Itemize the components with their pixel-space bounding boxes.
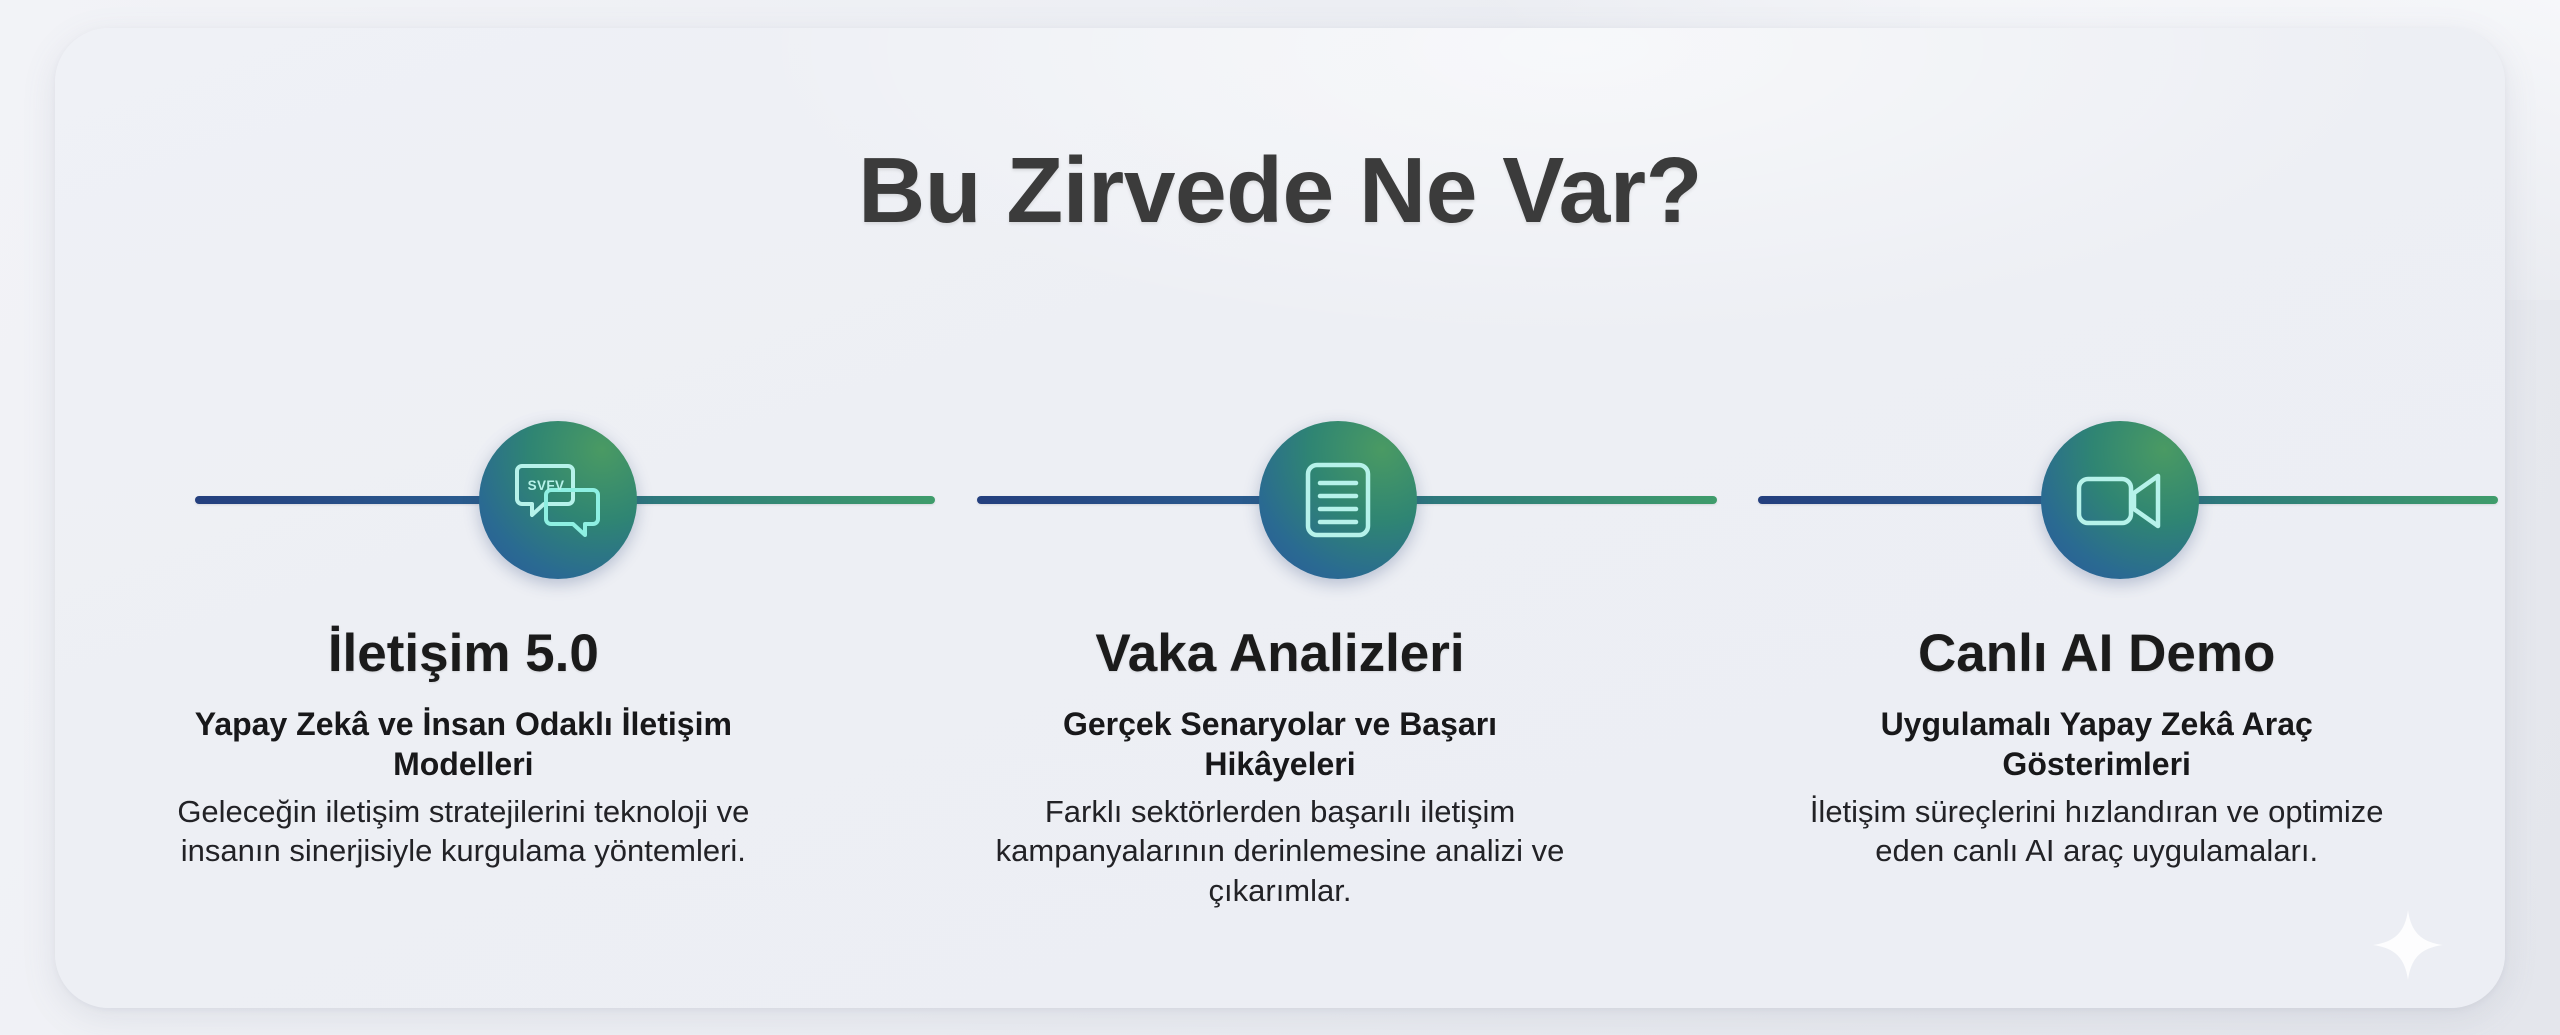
feature-subtitle: Uygulamalı Yapay Zekâ Araç Gösterimleri — [1808, 704, 2385, 784]
sparkle-icon — [2371, 908, 2445, 982]
chat-bubbles-icon: SVFV — [515, 458, 601, 542]
feature-subtitle: Yapay Zekâ ve İnsan Odaklı İletişim Mode… — [175, 704, 752, 784]
feature-title: İletişim 5.0 — [175, 626, 752, 682]
video-camera-icon — [2074, 467, 2166, 533]
timeline-node-1[interactable]: SVFV — [479, 421, 637, 579]
feature-columns: İletişim 5.0 Yapay Zekâ ve İnsan Odaklı … — [55, 626, 2505, 911]
feature-subtitle: Gerçek Senaryolar ve Başarı Hikâyeleri — [992, 704, 1569, 784]
feature-description: İletişim süreçlerini hızlandıran ve opti… — [1808, 792, 2385, 871]
feature-title: Canlı AI Demo — [1808, 626, 2385, 682]
document-lines-icon — [1299, 458, 1377, 542]
timeline-node-3[interactable] — [2041, 421, 2199, 579]
feature-column-3: Canlı AI Demo Uygulamalı Yapay Zekâ Araç… — [1688, 626, 2505, 911]
feature-title: Vaka Analizleri — [992, 626, 1569, 682]
node-badge-label: SVFV — [528, 478, 565, 493]
feature-column-1: İletişim 5.0 Yapay Zekâ ve İnsan Odaklı … — [55, 626, 872, 911]
page-root: Bu Zirvede Ne Var? SVFV — [0, 0, 2560, 1035]
timeline-node-2[interactable] — [1259, 421, 1417, 579]
page-title: Bu Zirvede Ne Var? — [55, 144, 2505, 237]
timeline: SVFV — [55, 393, 2505, 608]
feature-description: Farklı sektörlerden başarılı iletişim ka… — [992, 792, 1569, 911]
feature-column-2: Vaka Analizleri Gerçek Senaryolar ve Baş… — [872, 626, 1689, 911]
feature-card: Bu Zirvede Ne Var? SVFV — [55, 28, 2505, 1008]
feature-description: Geleceğin iletişim stratejilerini teknol… — [175, 792, 752, 871]
